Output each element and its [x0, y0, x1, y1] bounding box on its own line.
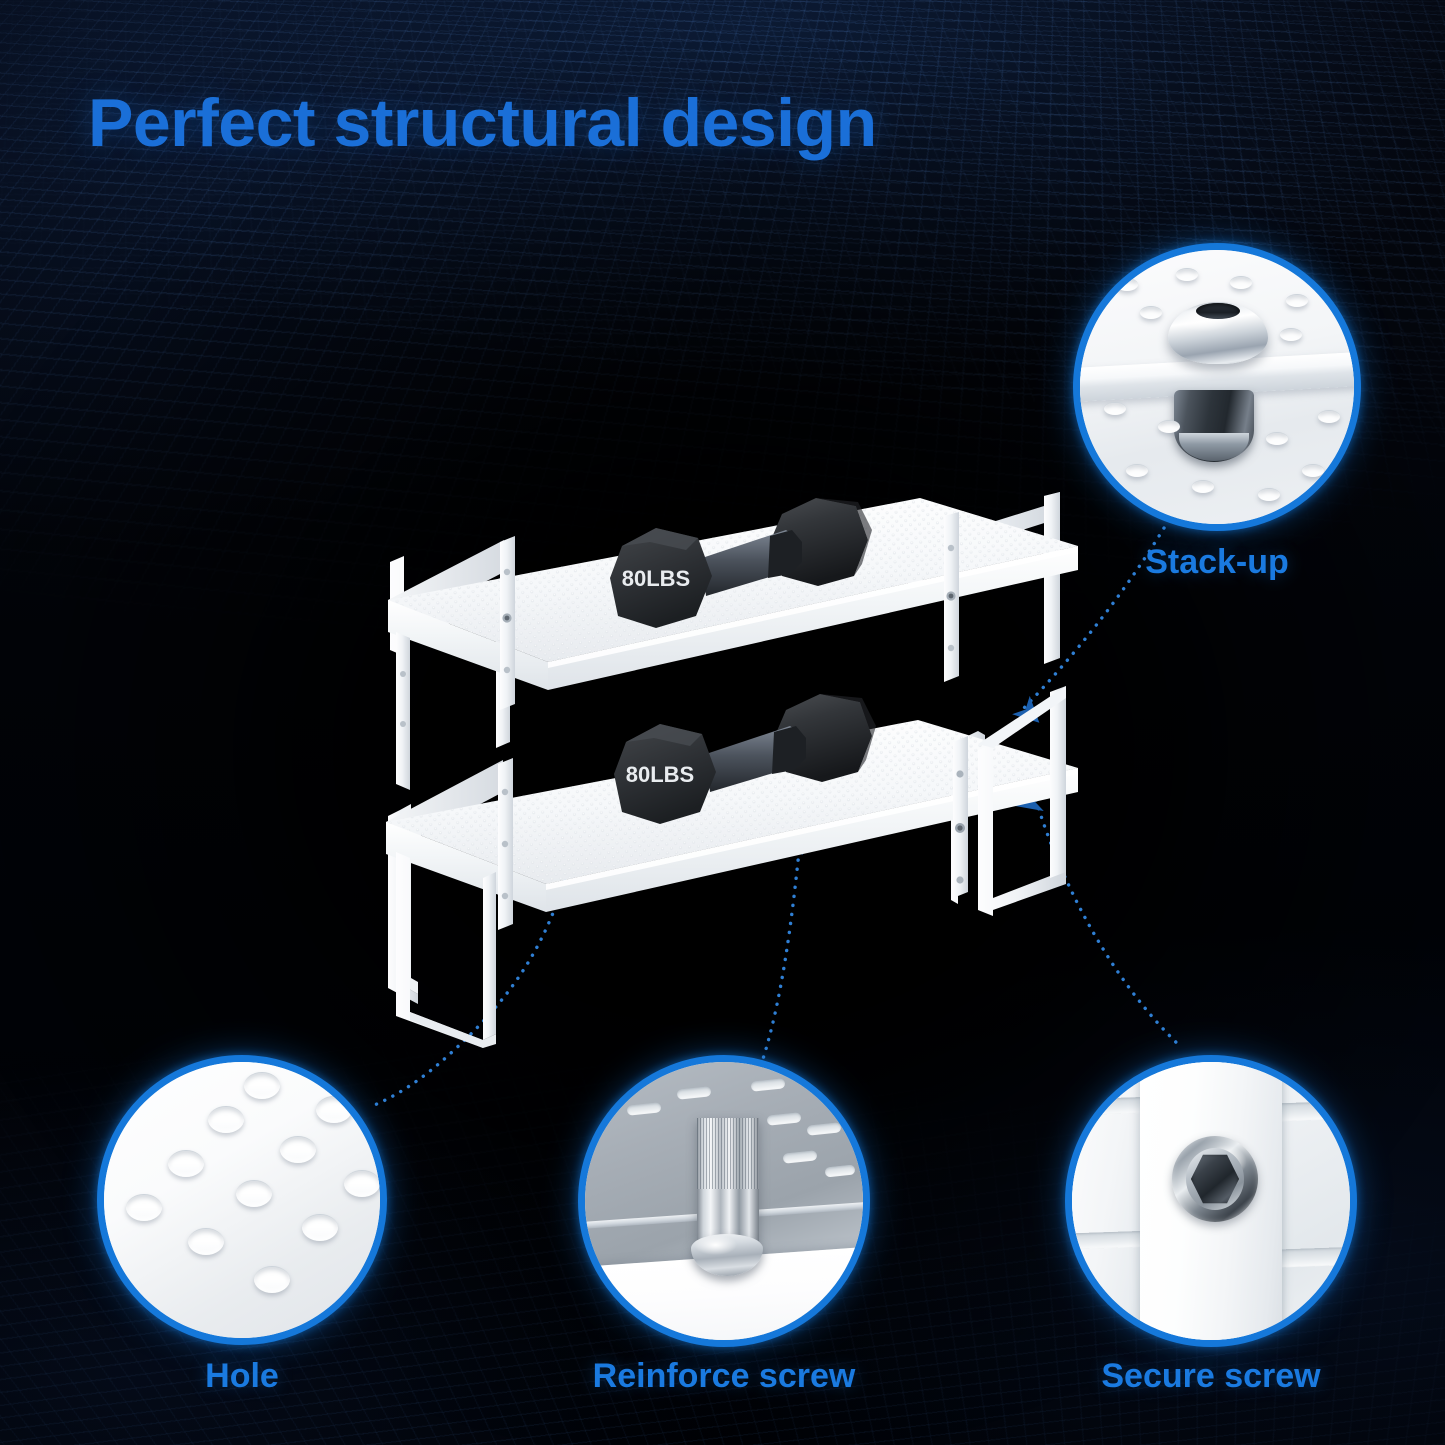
callout-label-reinforce-screw: Reinforce screw	[578, 1357, 870, 1396]
infographic-canvas: Perfect structural design	[0, 0, 1445, 1445]
top-tier-right-post	[944, 512, 959, 682]
product-illustration: 80LBS 80LBS	[378, 492, 1078, 1048]
hex-bolt-icon	[1072, 1062, 1350, 1340]
dumbbell-top-weight-label: 80LBS	[622, 566, 690, 591]
callout-label-hole: Hole	[97, 1357, 387, 1396]
top-tier-left-leg	[396, 632, 410, 790]
knurled-post-icon	[585, 1062, 863, 1340]
callout-label-stack-up: Stack-up	[1073, 543, 1361, 582]
top-tier-left-post	[500, 536, 515, 710]
bottom-tier-right-post	[953, 736, 968, 898]
dumbbell-bottom-weight-label: 80LBS	[626, 762, 694, 787]
callout-label-secure-screw: Secure screw	[1065, 1357, 1357, 1396]
perforated-plate-icon	[104, 1062, 380, 1338]
page-title: Perfect structural design	[88, 84, 877, 162]
stack-up-detail-circle	[1073, 243, 1361, 531]
secure-screw-detail-circle	[1065, 1055, 1357, 1347]
bottom-tier-left-post	[498, 758, 513, 930]
dome-stud-icon	[1080, 250, 1354, 524]
hole-detail-circle	[97, 1055, 387, 1345]
reinforce-screw-detail-circle	[578, 1055, 870, 1347]
